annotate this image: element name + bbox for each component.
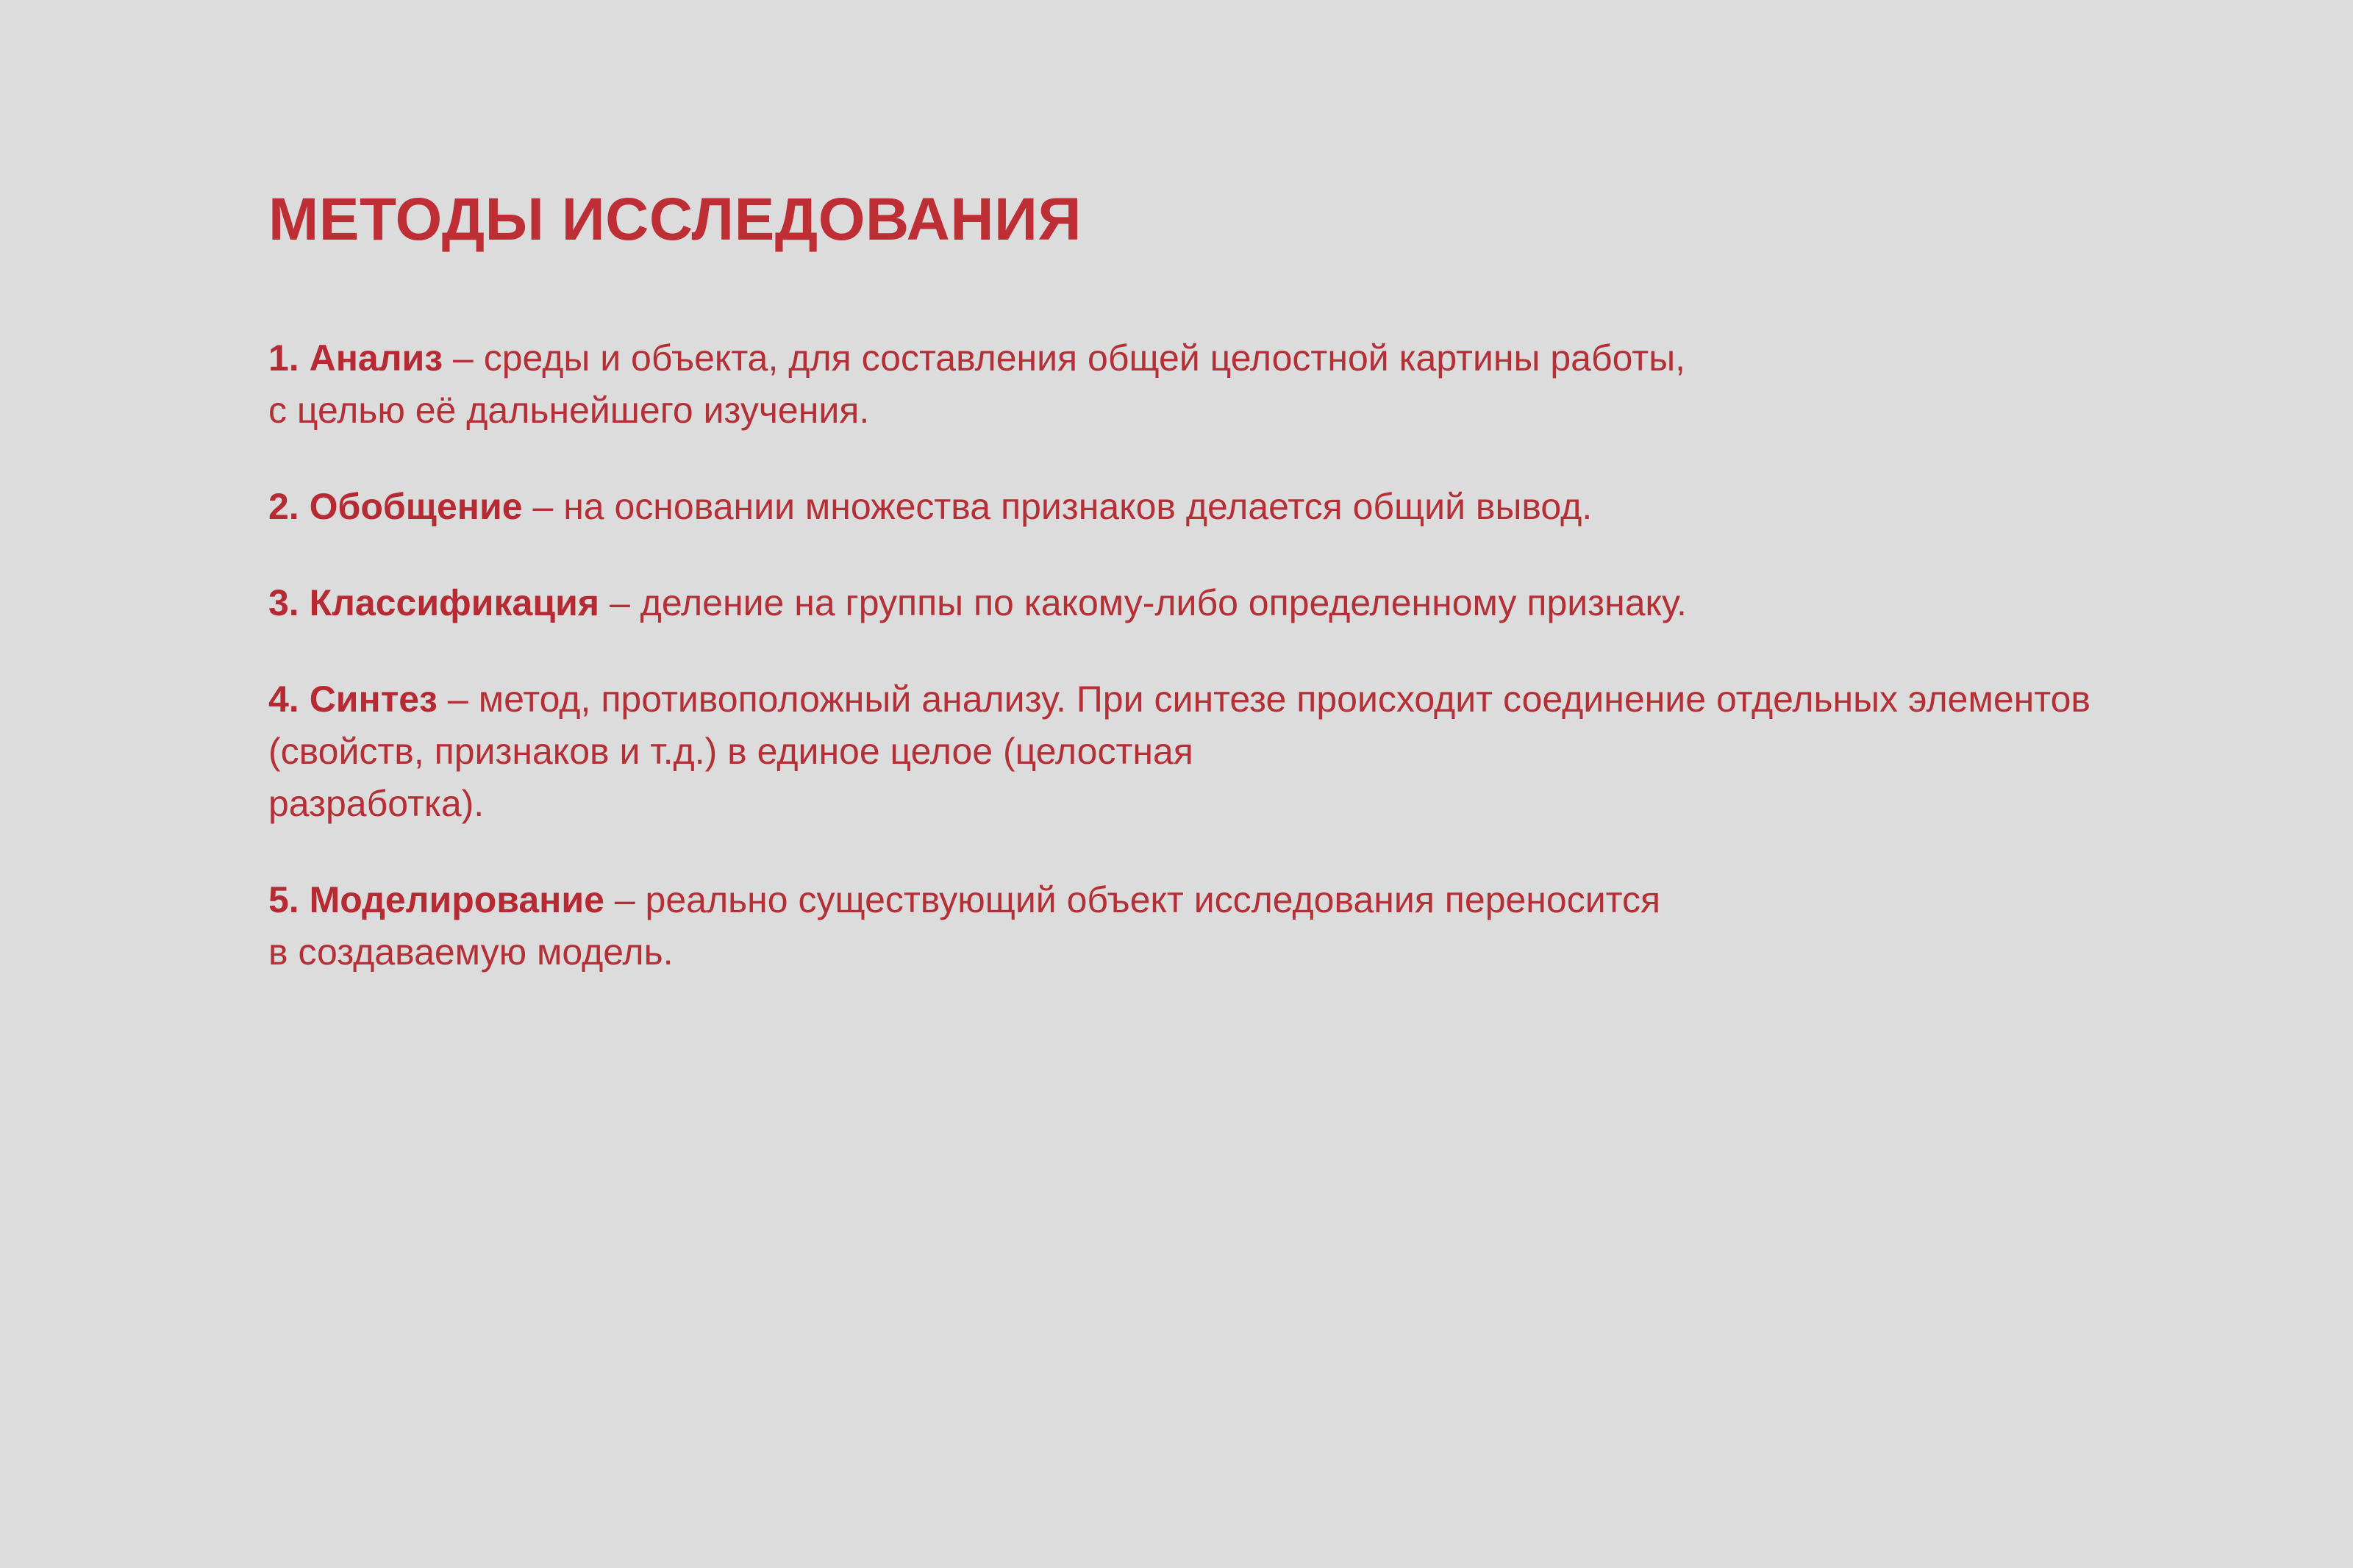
method-5-line-1: 5. Моделирование – реально существующий … bbox=[268, 874, 2090, 926]
list-item-method-4: 4. Синтез – метод, противоположный анали… bbox=[268, 673, 2090, 830]
method-3-label: Классификация bbox=[310, 582, 599, 623]
method-5-dash: – bbox=[615, 879, 635, 920]
method-4-body: метод, противоположный анализу. При синт… bbox=[268, 679, 2090, 772]
method-2-dash: – bbox=[532, 486, 553, 527]
list-item-method-5: 5. Моделирование – реально существующий … bbox=[268, 874, 2090, 978]
method-2-number: 2. bbox=[268, 486, 299, 527]
method-1-number: 1. bbox=[268, 337, 299, 379]
method-2-body: на основании множества признаков делаетс… bbox=[563, 486, 1592, 527]
method-4-number: 4. bbox=[268, 679, 299, 720]
method-5-body: реально существующий объект исследования… bbox=[646, 879, 1661, 920]
page-title: МЕТОДЫ ИССЛЕДОВАНИЯ bbox=[268, 0, 2090, 250]
method-4-dash: – bbox=[448, 679, 468, 720]
method-1-dash: – bbox=[453, 337, 474, 379]
slide-content: МЕТОДЫ ИССЛЕДОВАНИЯ 1. Анализ – среды и … bbox=[268, 0, 2090, 978]
list-item-method-2: 2. Обобщение – на основании множества пр… bbox=[268, 481, 2090, 533]
list-item-method-1: 1. Анализ – среды и объекта, для составл… bbox=[268, 332, 2090, 437]
method-4-label: Синтез bbox=[310, 679, 438, 720]
method-1-line-1: 1. Анализ – среды и объекта, для составл… bbox=[268, 332, 2090, 384]
method-3-body: деление на группы по какому-либо определ… bbox=[640, 582, 1687, 623]
method-5-number: 5. bbox=[268, 879, 299, 920]
method-1-line-2: с целью её дальнейшего изучения. bbox=[268, 384, 2090, 437]
method-5-label: Моделирование bbox=[310, 879, 604, 920]
list-item-method-3: 3. Классификация – деление на группы по … bbox=[268, 577, 2090, 629]
method-2-label: Обобщение bbox=[310, 486, 523, 527]
methods-list: 1. Анализ – среды и объекта, для составл… bbox=[268, 332, 2090, 978]
method-4-body-last: разработка). bbox=[268, 778, 2090, 830]
method-1-label: Анализ bbox=[310, 337, 443, 379]
slide-canvas: МЕТОДЫ ИССЛЕДОВАНИЯ 1. Анализ – среды и … bbox=[0, 0, 2353, 1568]
method-3-number: 3. bbox=[268, 582, 299, 623]
method-5-line-2: в создаваемую модель. bbox=[268, 926, 2090, 978]
method-1-body: среды и объекта, для составления общей ц… bbox=[484, 337, 1685, 379]
method-3-dash: – bbox=[610, 582, 630, 623]
